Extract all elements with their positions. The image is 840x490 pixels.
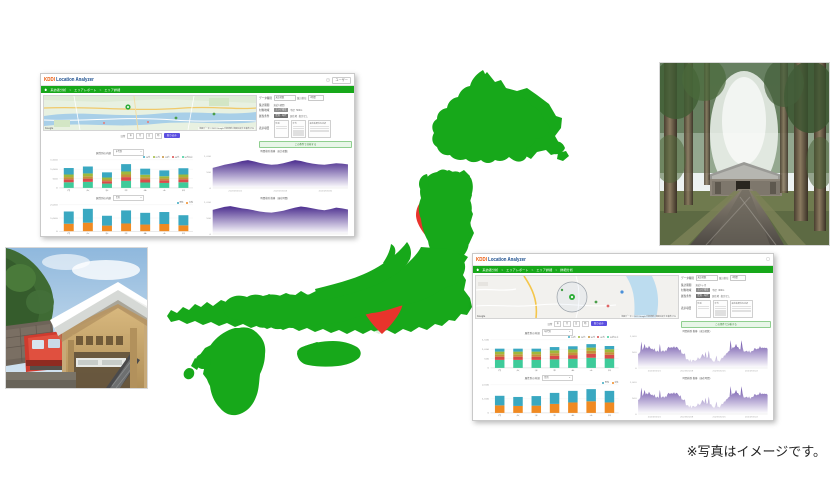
control-label-radius: 半径 bbox=[712, 288, 717, 292]
svg-text:500: 500 bbox=[632, 351, 637, 353]
svg-text:2023/05/01: 2023/05/01 bbox=[647, 417, 661, 419]
svg-text:2023/05/08: 2023/05/08 bbox=[680, 371, 694, 373]
image-disclaimer-caption: ※写真はイメージです。 bbox=[687, 441, 826, 460]
bar-top-select[interactable]: 年代別 ▾ bbox=[113, 149, 144, 156]
area-top-title: 時間帯別 推移（来訪者数） bbox=[625, 329, 771, 333]
breadcrumb-2[interactable]: エリアレポート bbox=[74, 87, 96, 92]
control-value-radius[interactable]: 300m bbox=[718, 289, 724, 292]
control-box-line bbox=[732, 306, 751, 308]
bar-top-select-value: 年代別 bbox=[116, 150, 123, 155]
control-row-attr[interactable]: 属性条件 性別・年代 居住地 指定なし bbox=[681, 294, 771, 298]
control-box-gender[interactable]: 性別 bbox=[696, 300, 711, 318]
bar-bottom-select[interactable]: 性別 ▾ bbox=[113, 195, 144, 202]
bar-bottom-select-label: 属性別の内訳 bbox=[96, 196, 111, 200]
control-row-datatype[interactable]: データ種別 来訪者数 集計単位 1時間 bbox=[681, 275, 771, 281]
control-row-period[interactable]: 集計期間 直近1ヶ月 bbox=[681, 283, 771, 287]
svg-text:水: 水 bbox=[105, 233, 109, 236]
svg-text:1,000: 1,000 bbox=[629, 382, 637, 384]
svg-text:金: 金 bbox=[144, 189, 148, 192]
control-box-line bbox=[698, 308, 709, 310]
control-input-unit[interactable]: 1時間 bbox=[730, 275, 746, 281]
control-box-breakdown[interactable]: 来訪者属性の内訳 bbox=[730, 300, 753, 318]
photo-temple-path bbox=[659, 62, 830, 246]
map-toolbar-cell-hour[interactable]: 時 bbox=[155, 133, 162, 139]
chevron-down-icon: ▾ bbox=[140, 196, 141, 201]
svg-text:2023/05/01: 2023/05/01 bbox=[647, 371, 661, 373]
breadcrumb-1[interactable]: 来訪者分析 bbox=[50, 87, 66, 92]
map-attribution: 地図データ ©2023 Google 利用規約 地図の誤りを報告する bbox=[620, 315, 677, 318]
control-box-title-age: 年代 bbox=[715, 302, 726, 305]
charts-column-right: 時間帯別 推移（来訪者数） 1,00050002023/05/012023/05… bbox=[625, 329, 771, 420]
svg-text:1,000: 1,000 bbox=[50, 218, 58, 220]
svg-text:0: 0 bbox=[56, 187, 58, 189]
control-box-line bbox=[732, 310, 751, 312]
svg-text:火: 火 bbox=[86, 189, 90, 192]
svg-text:2023/05/22: 2023/05/22 bbox=[744, 417, 758, 419]
svg-text:土: 土 bbox=[590, 414, 594, 417]
photo-train-station bbox=[5, 247, 148, 389]
filter-button[interactable]: 絞り込み bbox=[591, 321, 607, 326]
control-row-display: 表示項目 性別 年代 bbox=[681, 299, 771, 318]
control-chip-area[interactable]: エリア指定 bbox=[696, 288, 711, 292]
breadcrumb-sep: > bbox=[69, 88, 71, 92]
control-box-title-breakdown: 来訪者属性の内訳 bbox=[732, 302, 751, 305]
bar-top-select-label: 属性別の内訳 bbox=[96, 151, 111, 155]
breadcrumb-sep: > bbox=[100, 88, 102, 92]
brand-kddi: KDDI bbox=[44, 77, 55, 83]
svg-text:日: 日 bbox=[608, 415, 612, 417]
control-row-area[interactable]: 対象地域 エリア指定 半径 300m bbox=[681, 288, 771, 292]
svg-text:2023/05/15: 2023/05/15 bbox=[712, 371, 726, 373]
control-chip-attr[interactable]: 性別・年代 bbox=[696, 294, 711, 298]
svg-text:2023/05/08: 2023/05/08 bbox=[680, 417, 694, 419]
control-box-line bbox=[698, 306, 709, 308]
area-chart-bottom[interactable]: 1,00050002023/05/012023/05/082023/05/152… bbox=[625, 380, 771, 420]
svg-text:1,000: 1,000 bbox=[629, 335, 637, 337]
app-brand: KDDI Location Analyzer bbox=[44, 77, 94, 82]
control-value-residence[interactable]: 指定なし bbox=[721, 294, 731, 298]
help-icon[interactable] bbox=[766, 257, 770, 261]
bar-bottom-select-value: 性別 bbox=[116, 196, 120, 201]
analyze-button[interactable]: この条件で分析する bbox=[681, 321, 771, 328]
svg-text:0: 0 bbox=[635, 414, 637, 416]
svg-text:1,500: 1,500 bbox=[50, 159, 58, 161]
svg-text:土: 土 bbox=[590, 369, 594, 372]
control-value-period[interactable]: 直近1ヶ月 bbox=[696, 283, 707, 287]
map-toolbar-cell-day[interactable]: 日 bbox=[146, 133, 153, 139]
control-box-age[interactable]: 年代 bbox=[713, 300, 728, 318]
area-chart-top-block: 時間帯別 推移（来訪者数） 1,00050002023/05/012023/05… bbox=[625, 329, 771, 374]
svg-text:月: 月 bbox=[67, 233, 71, 236]
chevron-down-icon: ▾ bbox=[140, 150, 141, 155]
svg-text:500: 500 bbox=[53, 178, 59, 180]
svg-text:日: 日 bbox=[608, 369, 612, 371]
map-toolbar-cell-hour[interactable]: 時 bbox=[582, 321, 589, 327]
area-bottom-title: 時間帯別 推移（滞在時間） bbox=[625, 376, 771, 380]
control-boxes[interactable]: 性別 年代 来訪者属性の内訳 bbox=[696, 300, 753, 318]
control-panel[interactable]: データ種別 来訪者数 集計単位 1時間 集計期間 直近1ヶ月 対象地域 エリア指… bbox=[681, 275, 771, 328]
svg-text:500: 500 bbox=[632, 398, 637, 400]
home-icon[interactable] bbox=[44, 88, 47, 91]
svg-text:木: 木 bbox=[124, 189, 128, 192]
control-label-unit: 集計単位 bbox=[719, 276, 729, 280]
screenshot-stage: KDDI Location Analyzer ? ユーザー 来訪者分析 > エリ… bbox=[0, 0, 840, 490]
map-toolbar-label: 日付 bbox=[120, 134, 125, 138]
control-box-line bbox=[715, 306, 726, 308]
area-chart-bottom-block: 時間帯別 推移（滞在時間） 1,00050002023/05/012023/05… bbox=[625, 376, 771, 421]
japan-map-detail bbox=[165, 58, 575, 458]
svg-text:金: 金 bbox=[144, 233, 148, 236]
svg-text:1,000: 1,000 bbox=[50, 169, 58, 171]
control-label-attr: 属性条件 bbox=[681, 294, 694, 298]
svg-text:火: 火 bbox=[86, 233, 90, 236]
svg-text:木: 木 bbox=[124, 233, 128, 236]
control-box-line bbox=[715, 314, 726, 316]
control-box-title-gender: 性別 bbox=[698, 302, 709, 305]
control-label-residence: 居住地 bbox=[712, 294, 719, 298]
titlebar-actions[interactable] bbox=[766, 257, 770, 261]
control-input-datatype[interactable]: 来訪者数 bbox=[696, 275, 718, 281]
control-label-area: 対象地域 bbox=[681, 288, 694, 292]
breadcrumb-3[interactable]: エリア詳細 bbox=[104, 87, 120, 92]
map-logo: Google bbox=[45, 127, 53, 130]
svg-text:水: 水 bbox=[105, 189, 109, 192]
svg-text:2023/05/15: 2023/05/15 bbox=[712, 417, 726, 419]
svg-text:2,000: 2,000 bbox=[50, 205, 58, 207]
svg-text:2023/05/22: 2023/05/22 bbox=[744, 371, 758, 373]
map-toolbar-cell-month[interactable]: 月 bbox=[136, 133, 143, 139]
control-label-datatype: データ種別 bbox=[681, 276, 694, 280]
control-label-display: 表示項目 bbox=[681, 306, 694, 310]
svg-text:月: 月 bbox=[67, 189, 71, 192]
map-toolbar-cell-year[interactable]: 年 bbox=[127, 133, 134, 139]
svg-text:0: 0 bbox=[635, 367, 637, 369]
svg-text:0: 0 bbox=[56, 231, 59, 233]
control-label-period: 集計期間 bbox=[681, 283, 694, 287]
area-chart-top[interactable]: 1,00050002023/05/012023/05/082023/05/152… bbox=[625, 334, 771, 374]
brand-appname: Location Analyzer bbox=[56, 77, 94, 83]
